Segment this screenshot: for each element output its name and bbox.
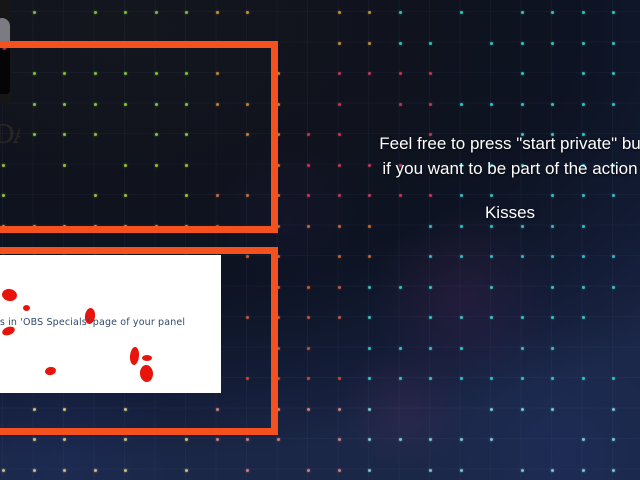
notice-panel: re this in 'OBS Specials' page of your p… [0,255,221,393]
orange-frame-top [0,41,278,233]
overlay-message: Feel free to press "start private" bu if… [300,131,640,181]
ink-blob [142,355,152,361]
ink-blob [23,305,30,311]
overlay-signoff: Kisses [300,202,640,224]
overlay-message-line-1: Feel free to press "start private" bu [300,131,640,156]
stream-overlay-stage: DA re this in 'OBS Specials' page of you… [0,0,640,480]
ink-blob [129,347,140,366]
ink-blob [1,288,18,302]
notice-text: re this in 'OBS Specials' page of your p… [0,317,221,328]
overlay-message-line-2: if you want to be part of the action [300,156,640,181]
ink-blob [139,364,153,382]
ink-blob [44,366,56,376]
